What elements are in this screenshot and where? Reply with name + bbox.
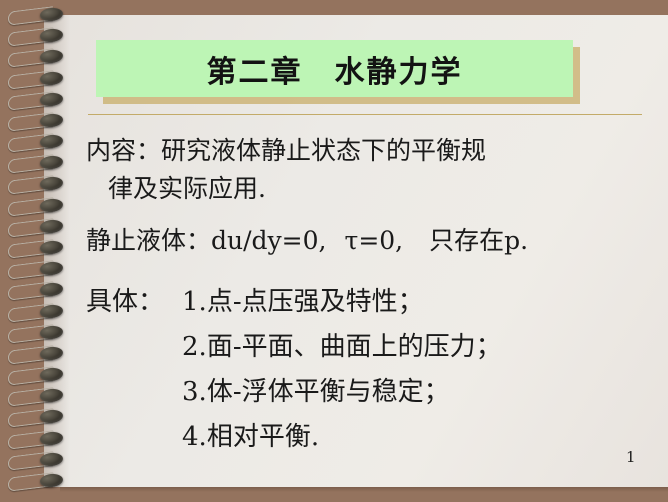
spiral-ring-icon	[0, 50, 70, 65]
spiral-ring-icon	[0, 262, 70, 277]
list-item: 具体：1.点-点压强及特性；	[86, 280, 652, 325]
list-item-number: 3.	[182, 377, 207, 407]
detail-list: 具体：1.点-点压强及特性；2.面-平面、曲面上的压力；3.体-浮体平衡与稳定；…	[86, 280, 652, 460]
spiral-ring-icon	[0, 177, 70, 192]
detail-label: 具体：	[86, 280, 182, 325]
spiral-ring-icon	[0, 8, 70, 23]
page-title: 第二章 水静力学	[207, 47, 463, 91]
spiral-bead	[39, 367, 63, 382]
spiral-ring-icon	[0, 410, 70, 425]
static-equation-1: du/dy=0,	[211, 226, 326, 255]
content-paragraph: 内容：研究液体静止状态下的平衡规律及实际应用.	[86, 132, 652, 208]
horizontal-divider	[88, 114, 642, 115]
spiral-binding	[0, 8, 70, 488]
static-label: 静止液体：	[86, 226, 211, 255]
list-item: 2.面-平面、曲面上的压力；	[86, 325, 652, 370]
presentation-slide: 第二章 水静力学 内容：研究液体静止状态下的平衡规律及实际应用. 静止液体：du…	[0, 0, 668, 502]
slide-body: 内容：研究液体静止状态下的平衡规律及实际应用. 静止液体：du/dy=0,τ=0…	[86, 128, 652, 476]
spiral-ring-icon	[0, 389, 70, 404]
content-text: 研究液体静止状态下的平衡规	[161, 136, 486, 165]
spiral-ring-icon	[0, 156, 70, 171]
page-number: 1	[626, 448, 636, 466]
static-equation-2: τ=0,	[344, 226, 403, 255]
spiral-ring-icon	[0, 347, 70, 362]
spiral-ring-icon	[0, 432, 70, 447]
list-item: 3.体-浮体平衡与稳定；	[86, 370, 652, 415]
list-item-label: 相对平衡.	[207, 422, 319, 452]
spiral-ring-icon	[0, 72, 70, 87]
page-drop-shadow	[60, 487, 668, 492]
static-equation-3: 只存在p.	[429, 226, 528, 255]
spiral-bead	[39, 28, 63, 43]
spiral-bead	[39, 261, 63, 276]
spiral-ring-icon	[0, 220, 70, 235]
spiral-bead	[39, 473, 63, 488]
spiral-ring-icon	[0, 114, 70, 129]
content-label: 内容：	[86, 136, 161, 165]
content-text-continued: 律及实际应用.	[86, 170, 652, 208]
spiral-ring-icon	[0, 199, 70, 214]
spiral-ring-icon	[0, 241, 70, 256]
spiral-ring-icon	[0, 453, 70, 468]
spiral-ring-icon	[0, 474, 70, 489]
spiral-ring-icon	[0, 283, 70, 298]
list-item: 4.相对平衡.	[86, 415, 652, 460]
spiral-ring-icon	[0, 29, 70, 44]
spiral-ring-icon	[0, 93, 70, 108]
list-item-label: 体-浮体平衡与稳定；	[207, 377, 450, 407]
static-liquid-paragraph: 静止液体：du/dy=0,τ=0,只存在p.	[86, 222, 652, 260]
spiral-ring-icon	[0, 368, 70, 383]
spiral-bead	[39, 134, 63, 149]
title-box: 第二章 水静力学	[96, 40, 573, 97]
list-item-number: 1.	[182, 287, 207, 317]
spiral-bead	[39, 7, 63, 22]
list-item-label: 点-点压强及特性；	[207, 287, 424, 317]
spiral-ring-icon	[0, 326, 70, 341]
list-item-label: 面-平面、曲面上的压力；	[207, 332, 502, 362]
spiral-bead	[39, 240, 63, 255]
list-item-number: 4.	[182, 422, 207, 452]
list-item-number: 2.	[182, 332, 207, 362]
spiral-ring-icon	[0, 135, 70, 150]
spiral-ring-icon	[0, 305, 70, 320]
